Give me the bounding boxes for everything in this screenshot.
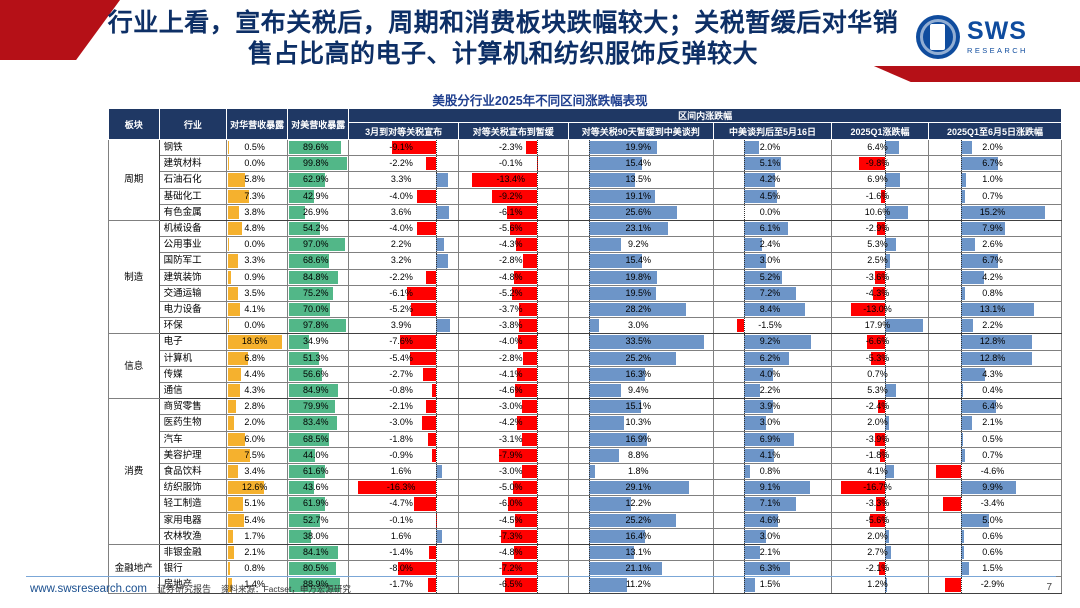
table-row: 房地产1.4%88.9%-1.7%-6.5%11.2%1.5%1.2%-2.9% <box>109 577 1062 593</box>
cell-p2: -5.0% <box>458 480 568 496</box>
cell-industry: 石油石化 <box>159 172 226 188</box>
cell-p1: -0.9% <box>349 447 459 463</box>
cell-p1: -0.8% <box>349 383 459 399</box>
cell-p3: 16.3% <box>568 366 713 382</box>
cell-us-revenue: 75.2% <box>288 285 349 301</box>
cell-p1: -1.4% <box>349 545 459 561</box>
cell-industry: 基础化工 <box>159 188 226 204</box>
cell-p4: 2.2% <box>714 383 832 399</box>
table-row: 环保0.0%97.8%3.9%-3.8%3.0%-1.5%17.9%2.2% <box>109 318 1062 334</box>
cell-industry: 美容护理 <box>159 447 226 463</box>
cell-p6: 9.9% <box>929 480 1062 496</box>
cell-p1: -6.1% <box>349 285 459 301</box>
cell-industry: 家用电器 <box>159 512 226 528</box>
col-header-industry: 行业 <box>159 109 226 140</box>
cell-us-revenue: 84.1% <box>288 545 349 561</box>
cell-p2: -13.4% <box>458 172 568 188</box>
table-row: 石油石化5.8%62.9%3.3%-13.4%13.5%4.2%6.9%1.0% <box>109 172 1062 188</box>
cell-p1: 1.6% <box>349 464 459 480</box>
cell-p5: -2.9% <box>832 221 929 237</box>
cell-p4: 2.4% <box>714 237 832 253</box>
cell-us-revenue: 54.2% <box>288 221 349 237</box>
cell-us-revenue: 44.0% <box>288 447 349 463</box>
cell-p6: -4.6% <box>929 464 1062 480</box>
cell-p6: 5.0% <box>929 512 1062 528</box>
cell-p6: 7.9% <box>929 221 1062 237</box>
table-row: 周期钢铁0.5%89.6%-9.1%-2.3%19.9%2.0%6.4%2.0% <box>109 140 1062 156</box>
cell-us-revenue: 62.9% <box>288 172 349 188</box>
cell-p3: 9.2% <box>568 237 713 253</box>
cell-p2: -6.1% <box>458 204 568 220</box>
cell-p2: -2.8% <box>458 350 568 366</box>
cell-china-revenue: 5.4% <box>227 512 288 528</box>
cell-p2: -2.3% <box>458 140 568 156</box>
cell-p2: -3.1% <box>458 431 568 447</box>
cell-china-revenue: 2.0% <box>227 415 288 431</box>
cell-p4: 7.2% <box>714 285 832 301</box>
cell-china-revenue: 4.8% <box>227 221 288 237</box>
cell-p1: -1.8% <box>349 431 459 447</box>
cell-china-revenue: 3.5% <box>227 285 288 301</box>
cell-p4: 3.0% <box>714 253 832 269</box>
cell-industry: 食品饮料 <box>159 464 226 480</box>
table-row: 医药生物2.0%83.4%-3.0%-4.2%10.3%3.0%2.0%2.1% <box>109 415 1062 431</box>
cell-p3: 25.2% <box>568 350 713 366</box>
table-row: 银行0.8%80.5%-8.0%-7.2%21.1%6.3%-2.1%1.5% <box>109 561 1062 577</box>
sws-logo: SWS RESEARCH <box>916 12 1066 62</box>
cell-p2: -0.1% <box>458 156 568 172</box>
cell-p1: -9.1% <box>349 140 459 156</box>
footer-url[interactable]: www.swsresearch.com <box>30 583 147 595</box>
cell-p2: -6.0% <box>458 496 568 512</box>
table-row: 传媒4.4%56.6%-2.7%-4.1%16.3%4.0%0.7%4.3% <box>109 366 1062 382</box>
cell-china-revenue: 3.3% <box>227 253 288 269</box>
cell-p1: -7.6% <box>349 334 459 350</box>
col-header-sector: 板块 <box>109 109 160 140</box>
cell-p6: 2.2% <box>929 318 1062 334</box>
cell-p4: 4.2% <box>714 172 832 188</box>
cell-us-revenue: 68.6% <box>288 253 349 269</box>
cell-p3: 33.5% <box>568 334 713 350</box>
cell-p6: 6.7% <box>929 253 1062 269</box>
cell-p5: -1.6% <box>832 188 929 204</box>
cell-p3: 21.1% <box>568 561 713 577</box>
cell-p3: 25.2% <box>568 512 713 528</box>
cell-p5: 2.7% <box>832 545 929 561</box>
cell-p3: 28.2% <box>568 302 713 318</box>
col-header-p6: 2025Q1至6月5日涨跌幅 <box>929 123 1062 140</box>
cell-sector: 周期 <box>109 140 160 221</box>
table-head-row-group: 板块 行业 对华营收暴露 对美营收暴露 区间内涨跌幅 <box>109 109 1062 123</box>
cell-p5: 4.1% <box>832 464 929 480</box>
cell-industry: 计算机 <box>159 350 226 366</box>
cell-p2: -2.8% <box>458 253 568 269</box>
cell-china-revenue: 0.0% <box>227 156 288 172</box>
cell-us-revenue: 51.3% <box>288 350 349 366</box>
cell-industry: 汽车 <box>159 431 226 447</box>
cell-p5: 2.0% <box>832 415 929 431</box>
table-row: 制造机械设备4.8%54.2%-4.0%-5.6%23.1%6.1%-2.9%7… <box>109 221 1062 237</box>
cell-sector: 信息 <box>109 334 160 399</box>
cell-industry: 银行 <box>159 561 226 577</box>
cell-p3: 16.9% <box>568 431 713 447</box>
cell-p5: 5.3% <box>832 383 929 399</box>
performance-table: 板块 行业 对华营收暴露 对美营收暴露 区间内涨跌幅 3月到对等关税宣布 对等关… <box>108 108 1062 594</box>
cell-p3: 15.4% <box>568 253 713 269</box>
cell-p1: -3.0% <box>349 415 459 431</box>
cell-p4: 6.2% <box>714 350 832 366</box>
table-row: 国防军工3.3%68.6%3.2%-2.8%15.4%3.0%2.5%6.7% <box>109 253 1062 269</box>
cell-p1: -8.0% <box>349 561 459 577</box>
cell-p3: 16.4% <box>568 528 713 544</box>
cell-china-revenue: 5.8% <box>227 172 288 188</box>
cell-p6: 12.8% <box>929 334 1062 350</box>
cell-p4: 6.9% <box>714 431 832 447</box>
cell-p4: 0.0% <box>714 204 832 220</box>
cell-sector: 制造 <box>109 221 160 334</box>
cell-p4: 6.1% <box>714 221 832 237</box>
cell-us-revenue: 84.8% <box>288 269 349 285</box>
cell-us-revenue: 61.9% <box>288 496 349 512</box>
cell-p1: 3.3% <box>349 172 459 188</box>
table-row: 汽车6.0%68.5%-1.8%-3.1%16.9%6.9%-3.9%0.5% <box>109 431 1062 447</box>
page-title: 行业上看，宣布关税后，周期和消费板块跌幅较大；关税暂缓后对华销 售占比高的电子、… <box>58 8 948 70</box>
cell-p2: -4.5% <box>458 512 568 528</box>
cell-p5: -5.3% <box>832 350 929 366</box>
cell-p6: -2.9% <box>929 577 1062 593</box>
cell-p6: 6.7% <box>929 156 1062 172</box>
cell-p4: 3.9% <box>714 399 832 415</box>
cell-p6: 1.5% <box>929 561 1062 577</box>
cell-industry: 交通运输 <box>159 285 226 301</box>
cell-p6: 2.0% <box>929 140 1062 156</box>
cell-p6: 1.0% <box>929 172 1062 188</box>
cell-industry: 钢铁 <box>159 140 226 156</box>
cell-p2: -3.8% <box>458 318 568 334</box>
cell-us-revenue: 99.8% <box>288 156 349 172</box>
cell-china-revenue: 0.8% <box>227 561 288 577</box>
cell-china-revenue: 0.9% <box>227 269 288 285</box>
cell-china-revenue: 2.8% <box>227 399 288 415</box>
cell-p3: 25.6% <box>568 204 713 220</box>
cell-p5: -3.9% <box>832 431 929 447</box>
cell-p6: 13.1% <box>929 302 1062 318</box>
cell-industry: 建筑装饰 <box>159 269 226 285</box>
cell-us-revenue: 88.9% <box>288 577 349 593</box>
cell-china-revenue: 0.0% <box>227 237 288 253</box>
cell-china-revenue: 18.6% <box>227 334 288 350</box>
cell-china-revenue: 7.3% <box>227 188 288 204</box>
footer-divider <box>26 576 1056 577</box>
cell-us-revenue: 97.8% <box>288 318 349 334</box>
cell-p5: 2.0% <box>832 528 929 544</box>
cell-p2: -5.2% <box>458 285 568 301</box>
table-row: 有色金属3.8%26.9%3.6%-6.1%25.6%0.0%10.6%15.2… <box>109 204 1062 220</box>
cell-p1: 2.2% <box>349 237 459 253</box>
cell-p2: -4.2% <box>458 415 568 431</box>
table-row: 纺织服饰12.6%43.6%-16.3%-5.0%29.1%9.1%-16.7%… <box>109 480 1062 496</box>
cell-us-revenue: 79.9% <box>288 399 349 415</box>
cell-industry: 公用事业 <box>159 237 226 253</box>
cell-p5: -2.1% <box>832 561 929 577</box>
cell-p4: 9.1% <box>714 480 832 496</box>
cell-p6: 12.8% <box>929 350 1062 366</box>
cell-p4: 2.1% <box>714 545 832 561</box>
cell-p3: 15.4% <box>568 156 713 172</box>
cell-p5: 6.4% <box>832 140 929 156</box>
cell-p6: 0.6% <box>929 545 1062 561</box>
cell-p3: 12.2% <box>568 496 713 512</box>
cell-p1: -5.4% <box>349 350 459 366</box>
cell-china-revenue: 4.3% <box>227 383 288 399</box>
cell-industry: 轻工制造 <box>159 496 226 512</box>
cell-p4: 2.0% <box>714 140 832 156</box>
cell-p5: -5.6% <box>832 512 929 528</box>
cell-industry: 通信 <box>159 383 226 399</box>
cell-us-revenue: 38.0% <box>288 528 349 544</box>
cell-p2: -4.8% <box>458 269 568 285</box>
cell-industry: 非银金融 <box>159 545 226 561</box>
cell-p3: 19.1% <box>568 188 713 204</box>
col-header-us-revenue: 对美营收暴露 <box>288 109 349 140</box>
table-row: 计算机6.8%51.3%-5.4%-2.8%25.2%6.2%-5.3%12.8… <box>109 350 1062 366</box>
table-row: 公用事业0.0%97.0%2.2%-4.3%9.2%2.4%5.3%2.6% <box>109 237 1062 253</box>
cell-us-revenue: 84.9% <box>288 383 349 399</box>
table-row: 轻工制造5.1%61.9%-4.7%-6.0%12.2%7.1%-3.3%-3.… <box>109 496 1062 512</box>
data-table-container: 板块 行业 对华营收暴露 对美营收暴露 区间内涨跌幅 3月到对等关税宣布 对等关… <box>108 108 1062 594</box>
cell-p4: 4.1% <box>714 447 832 463</box>
chart-title: 美股分行业2025年不同区间涨跌幅表现 <box>0 90 1080 109</box>
cell-us-revenue: 97.0% <box>288 237 349 253</box>
table-body: 周期钢铁0.5%89.6%-9.1%-2.3%19.9%2.0%6.4%2.0%… <box>109 140 1062 594</box>
cell-p2: -4.1% <box>458 366 568 382</box>
cell-industry: 纺织服饰 <box>159 480 226 496</box>
cell-p1: -2.1% <box>349 399 459 415</box>
cell-p4: 7.1% <box>714 496 832 512</box>
cell-p1: -16.3% <box>349 480 459 496</box>
col-header-china-revenue: 对华营收暴露 <box>227 109 288 140</box>
cell-p2: -9.2% <box>458 188 568 204</box>
table-row: 交通运输3.5%75.2%-6.1%-5.2%19.5%7.2%-4.3%0.8… <box>109 285 1062 301</box>
cell-p1: 3.9% <box>349 318 459 334</box>
cell-p4: 4.5% <box>714 188 832 204</box>
col-header-p1: 3月到对等关税宣布 <box>349 123 459 140</box>
cell-china-revenue: 0.5% <box>227 140 288 156</box>
cell-p5: -6.6% <box>832 334 929 350</box>
cell-us-revenue: 26.9% <box>288 204 349 220</box>
cell-p5: -13.0% <box>832 302 929 318</box>
cell-china-revenue: 7.5% <box>227 447 288 463</box>
cell-p6: 4.3% <box>929 366 1062 382</box>
table-row: 金融地产非银金融2.1%84.1%-1.4%-4.8%13.1%2.1%2.7%… <box>109 545 1062 561</box>
cell-p5: -3.6% <box>832 269 929 285</box>
cell-p6: -3.4% <box>929 496 1062 512</box>
cell-p1: 1.6% <box>349 528 459 544</box>
cell-p1: -0.1% <box>349 512 459 528</box>
cell-p3: 13.1% <box>568 545 713 561</box>
cell-p6: 0.7% <box>929 447 1062 463</box>
cell-p1: -2.7% <box>349 366 459 382</box>
table-row: 美容护理7.5%44.0%-0.9%-7.9%8.8%4.1%-1.8%0.7% <box>109 447 1062 463</box>
cell-p5: -16.7% <box>832 480 929 496</box>
cell-p3: 13.5% <box>568 172 713 188</box>
col-header-p4: 中美谈判后至5月16日 <box>714 123 832 140</box>
cell-industry: 机械设备 <box>159 221 226 237</box>
cell-industry: 环保 <box>159 318 226 334</box>
table-row: 消费商贸零售2.8%79.9%-2.1%-3.0%15.1%3.9%-2.4%6… <box>109 399 1062 415</box>
cell-p6: 0.7% <box>929 188 1062 204</box>
table-row: 电力设备4.1%70.0%-5.2%-3.7%28.2%8.4%-13.0%13… <box>109 302 1062 318</box>
cell-p5: -9.8% <box>832 156 929 172</box>
cell-p4: 4.6% <box>714 512 832 528</box>
cell-p3: 9.4% <box>568 383 713 399</box>
cell-sector: 消费 <box>109 399 160 545</box>
cell-p6: 0.5% <box>929 431 1062 447</box>
col-header-p5: 2025Q1涨跌幅 <box>832 123 929 140</box>
cell-china-revenue: 0.0% <box>227 318 288 334</box>
cell-p3: 1.8% <box>568 464 713 480</box>
cell-p3: 29.1% <box>568 480 713 496</box>
col-header-p3: 对等关税90天暂缓到中美谈判 <box>568 123 713 140</box>
cell-p1: -5.2% <box>349 302 459 318</box>
cell-industry: 有色金属 <box>159 204 226 220</box>
cell-p1: -2.2% <box>349 156 459 172</box>
cell-p6: 15.2% <box>929 204 1062 220</box>
cell-us-revenue: 43.6% <box>288 480 349 496</box>
cell-p2: -3.0% <box>458 399 568 415</box>
cell-industry: 农林牧渔 <box>159 528 226 544</box>
cell-p2: -5.6% <box>458 221 568 237</box>
page-header: 行业上看，宣布关税后，周期和消费板块跌幅较大；关税暂缓后对华销 售占比高的电子、… <box>0 0 1080 82</box>
cell-industry: 电子 <box>159 334 226 350</box>
cell-p6: 6.4% <box>929 399 1062 415</box>
cell-china-revenue: 3.4% <box>227 464 288 480</box>
cell-p4: 0.8% <box>714 464 832 480</box>
cell-p6: 0.4% <box>929 383 1062 399</box>
cell-china-revenue: 2.1% <box>227 545 288 561</box>
cell-china-revenue: 1.7% <box>227 528 288 544</box>
cell-p4: 3.0% <box>714 528 832 544</box>
cell-us-revenue: 68.5% <box>288 431 349 447</box>
cell-p4: 3.0% <box>714 415 832 431</box>
cell-p3: 3.0% <box>568 318 713 334</box>
cell-p1: -2.2% <box>349 269 459 285</box>
cell-us-revenue: 52.7% <box>288 512 349 528</box>
cell-p5: 0.7% <box>832 366 929 382</box>
cell-p4: 9.2% <box>714 334 832 350</box>
cell-us-revenue: 89.6% <box>288 140 349 156</box>
cell-p1: 3.2% <box>349 253 459 269</box>
cell-china-revenue: 4.4% <box>227 366 288 382</box>
cell-p2: -6.5% <box>458 577 568 593</box>
cell-china-revenue: 1.4% <box>227 577 288 593</box>
cell-p5: -4.3% <box>832 285 929 301</box>
cell-p2: -4.8% <box>458 545 568 561</box>
cell-p3: 23.1% <box>568 221 713 237</box>
cell-industry: 商贸零售 <box>159 399 226 415</box>
cell-p2: -3.0% <box>458 464 568 480</box>
table-row: 信息电子18.6%34.9%-7.6%-4.0%33.5%9.2%-6.6%12… <box>109 334 1062 350</box>
cell-industry: 建筑材料 <box>159 156 226 172</box>
cell-p5: 17.9% <box>832 318 929 334</box>
cell-industry: 医药生物 <box>159 415 226 431</box>
col-header-p2: 对等关税宣布到暂缓 <box>458 123 568 140</box>
cell-p2: -7.9% <box>458 447 568 463</box>
cell-us-revenue: 56.6% <box>288 366 349 382</box>
cell-p4: -1.5% <box>714 318 832 334</box>
cell-p1: -4.0% <box>349 188 459 204</box>
sws-logo-text: SWS RESEARCH <box>967 19 1028 55</box>
cell-p2: -3.7% <box>458 302 568 318</box>
cell-industry: 国防军工 <box>159 253 226 269</box>
table-row: 基础化工7.3%42.9%-4.0%-9.2%19.1%4.5%-1.6%0.7… <box>109 188 1062 204</box>
cell-p3: 19.5% <box>568 285 713 301</box>
table-row: 建筑装饰0.9%84.8%-2.2%-4.8%19.8%5.2%-3.6%4.2… <box>109 269 1062 285</box>
cell-p2: -7.2% <box>458 561 568 577</box>
cell-p5: -2.4% <box>832 399 929 415</box>
cell-p5: 5.3% <box>832 237 929 253</box>
cell-p6: 2.1% <box>929 415 1062 431</box>
cell-china-revenue: 6.8% <box>227 350 288 366</box>
cell-p3: 8.8% <box>568 447 713 463</box>
cell-p5: -1.8% <box>832 447 929 463</box>
cell-china-revenue: 6.0% <box>227 431 288 447</box>
cell-p1: -4.0% <box>349 221 459 237</box>
cell-p4: 5.2% <box>714 269 832 285</box>
cell-p5: 10.6% <box>832 204 929 220</box>
page-title-line2: 售占比高的电子、计算机和纺织服饰反弹较大 <box>58 39 948 70</box>
table-row: 农林牧渔1.7%38.0%1.6%-7.3%16.4%3.0%2.0%0.6% <box>109 528 1062 544</box>
cell-p5: -3.3% <box>832 496 929 512</box>
cell-p3: 19.8% <box>568 269 713 285</box>
cell-us-revenue: 61.6% <box>288 464 349 480</box>
cell-p3: 11.2% <box>568 577 713 593</box>
cell-p4: 6.3% <box>714 561 832 577</box>
col-header-range-group: 区间内涨跌幅 <box>349 109 1062 123</box>
cell-us-revenue: 83.4% <box>288 415 349 431</box>
cell-p1: 3.6% <box>349 204 459 220</box>
cell-p1: -1.7% <box>349 577 459 593</box>
cell-p3: 19.9% <box>568 140 713 156</box>
cell-p6: 0.6% <box>929 528 1062 544</box>
table-row: 家用电器5.4%52.7%-0.1%-4.5%25.2%4.6%-5.6%5.0… <box>109 512 1062 528</box>
footer-label: 证券研究报告 <box>157 582 211 595</box>
cell-p1: -4.7% <box>349 496 459 512</box>
cell-p6: 0.8% <box>929 285 1062 301</box>
cell-china-revenue: 3.8% <box>227 204 288 220</box>
cell-p4: 5.1% <box>714 156 832 172</box>
cell-china-revenue: 5.1% <box>227 496 288 512</box>
logo-subtitle: RESEARCH <box>967 47 1028 55</box>
cell-p5: 6.9% <box>832 172 929 188</box>
cell-p6: 4.2% <box>929 269 1062 285</box>
cell-p6: 2.6% <box>929 237 1062 253</box>
cell-p2: -4.0% <box>458 334 568 350</box>
cell-us-revenue: 42.9% <box>288 188 349 204</box>
cell-us-revenue: 34.9% <box>288 334 349 350</box>
cell-p3: 15.1% <box>568 399 713 415</box>
cell-us-revenue: 70.0% <box>288 302 349 318</box>
cell-p2: -4.3% <box>458 237 568 253</box>
cell-p3: 10.3% <box>568 415 713 431</box>
cell-industry: 电力设备 <box>159 302 226 318</box>
cell-us-revenue: 80.5% <box>288 561 349 577</box>
cell-p4: 1.5% <box>714 577 832 593</box>
table-head: 板块 行业 对华营收暴露 对美营收暴露 区间内涨跌幅 3月到对等关税宣布 对等关… <box>109 109 1062 140</box>
table-row: 建筑材料0.0%99.8%-2.2%-0.1%15.4%5.1%-9.8%6.7… <box>109 156 1062 172</box>
cell-p2: -7.3% <box>458 528 568 544</box>
cell-p2: -4.6% <box>458 383 568 399</box>
